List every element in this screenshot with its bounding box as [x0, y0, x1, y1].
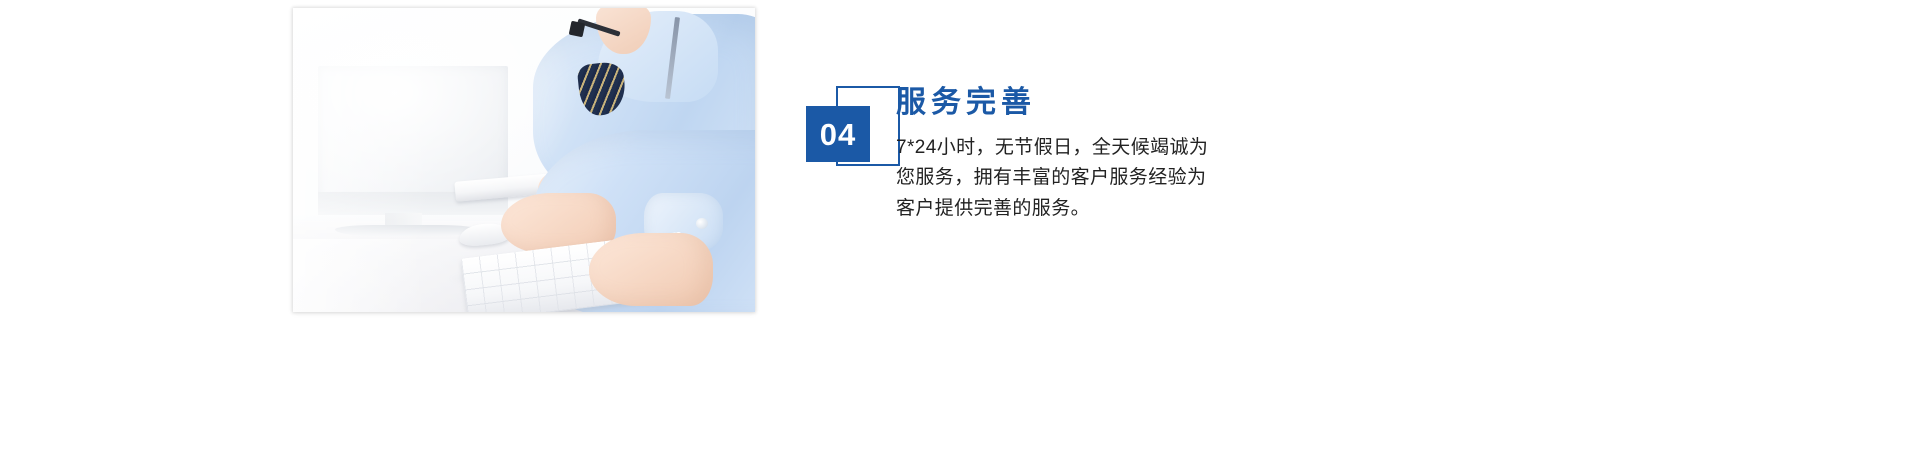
- service-feature-banner: 04 服务完善 7*24小时，无节假日，全天候竭诚为 您服务，拥有丰富的客户服务…: [0, 0, 1920, 452]
- feature-content: 04 服务完善 7*24小时，无节假日，全天候竭诚为 您服务，拥有丰富的客户服务…: [806, 86, 1426, 266]
- badge-number-label: 04: [806, 106, 870, 162]
- feature-description: 7*24小时，无节假日，全天候竭诚为 您服务，拥有丰富的客户服务经验为 客户提供…: [896, 133, 1296, 225]
- page-title: 服务完善: [896, 86, 1316, 121]
- step-number-badge: 04: [806, 86, 902, 180]
- description-line-1: 7*24小时，无节假日，全天候竭诚为: [896, 133, 1296, 164]
- photo-frame: [293, 8, 755, 312]
- feature-text-block: 服务完善 7*24小时，无节假日，全天候竭诚为 您服务，拥有丰富的客户服务经验为…: [896, 86, 1316, 225]
- monitor-stand-base: [335, 225, 478, 236]
- description-line-3: 客户提供完善的服务。: [896, 194, 1296, 225]
- agent-front-hand-on-keyboard: [589, 233, 714, 306]
- cuff-button-icon: [696, 218, 708, 229]
- call-center-photo: [293, 8, 755, 312]
- description-line-2: 您服务，拥有丰富的客户服务经验为: [896, 163, 1296, 194]
